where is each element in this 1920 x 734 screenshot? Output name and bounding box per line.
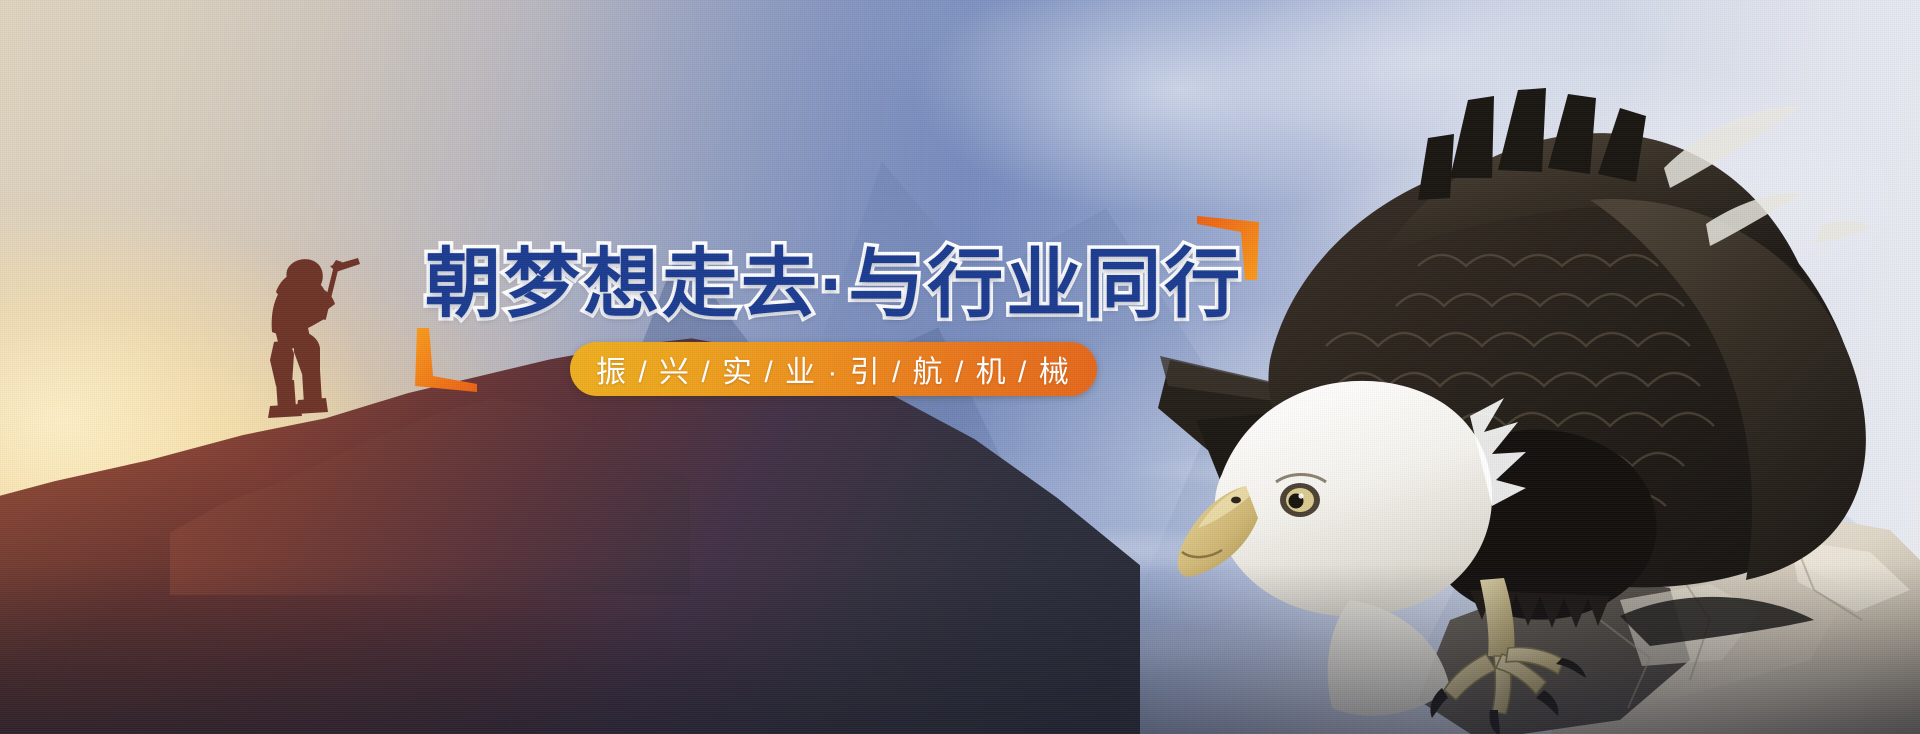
orange-corner-accent-bottom-left-icon xyxy=(407,326,479,394)
page-title: 朝梦想走去·与行业同行 xyxy=(425,242,1243,328)
hero-banner: 朝梦想走去·与行业同行 振 / 兴 / 实 / 业 · 引 / 航 / 机 / … xyxy=(0,0,1920,734)
subtitle-text: 振 / 兴 / 实 / 业 · 引 / 航 / 机 / 械 xyxy=(596,347,1071,391)
banner-text-block: 朝梦想走去·与行业同行 振 / 兴 / 实 / 业 · 引 / 航 / 机 / … xyxy=(405,232,1235,427)
subtitle-pill: 振 / 兴 / 实 / 业 · 引 / 航 / 机 / 械 xyxy=(570,342,1097,396)
climber-silhouette-icon xyxy=(236,222,376,422)
bottom-vignette xyxy=(0,564,1920,734)
